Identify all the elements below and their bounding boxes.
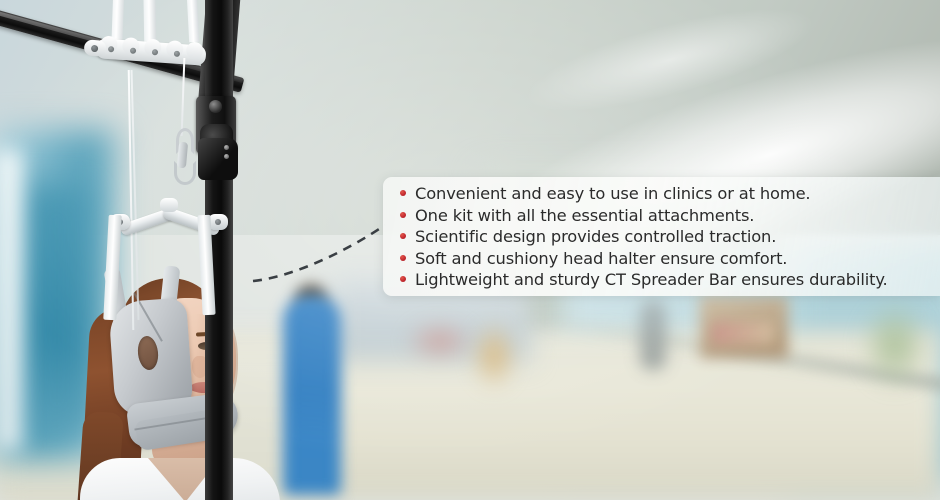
frame-screw-upper — [224, 145, 229, 150]
list-item: Scientific design provides controlled tr… — [400, 229, 934, 251]
features-list: Convenient and easy to use in clinics or… — [400, 186, 934, 290]
bullet-icon — [400, 212, 406, 218]
traction-hook — [170, 128, 194, 184]
feature-text: Convenient and easy to use in clinics or… — [415, 186, 810, 202]
feature-text: Soft and cushiony head halter ensure com… — [415, 251, 787, 267]
bullet-icon — [400, 255, 406, 261]
traction-chain — [95, 38, 206, 66]
feature-text: Lightweight and sturdy CT Spreader Bar e… — [415, 272, 888, 288]
bullet-icon — [400, 233, 406, 239]
spreader-apex — [160, 198, 178, 212]
frame-screw-lower — [224, 154, 229, 159]
bullet-icon — [400, 276, 406, 282]
frame-bracket — [198, 138, 238, 180]
features-panel: Convenient and easy to use in clinics or… — [383, 177, 940, 296]
feature-text: One kit with all the essential attachmen… — [415, 208, 754, 224]
halter-suspension-strap-left — [103, 215, 121, 321]
bullet-icon — [400, 190, 406, 196]
ceiling-strap-c — [187, 0, 199, 42]
callout-connector — [235, 205, 405, 300]
frame-knob — [209, 100, 222, 113]
dashed-curve-icon — [235, 205, 405, 300]
list-item: Lightweight and sturdy CT Spreader Bar e… — [400, 272, 934, 294]
hook-curve — [174, 161, 196, 185]
spreader-hole-right — [215, 219, 221, 225]
feature-text: Scientific design provides controlled tr… — [415, 229, 776, 245]
list-item: One kit with all the essential attachmen… — [400, 208, 934, 230]
list-item: Convenient and easy to use in clinics or… — [400, 186, 934, 208]
list-item: Soft and cushiony head halter ensure com… — [400, 251, 934, 273]
promo-banner: Convenient and easy to use in clinics or… — [0, 0, 940, 500]
